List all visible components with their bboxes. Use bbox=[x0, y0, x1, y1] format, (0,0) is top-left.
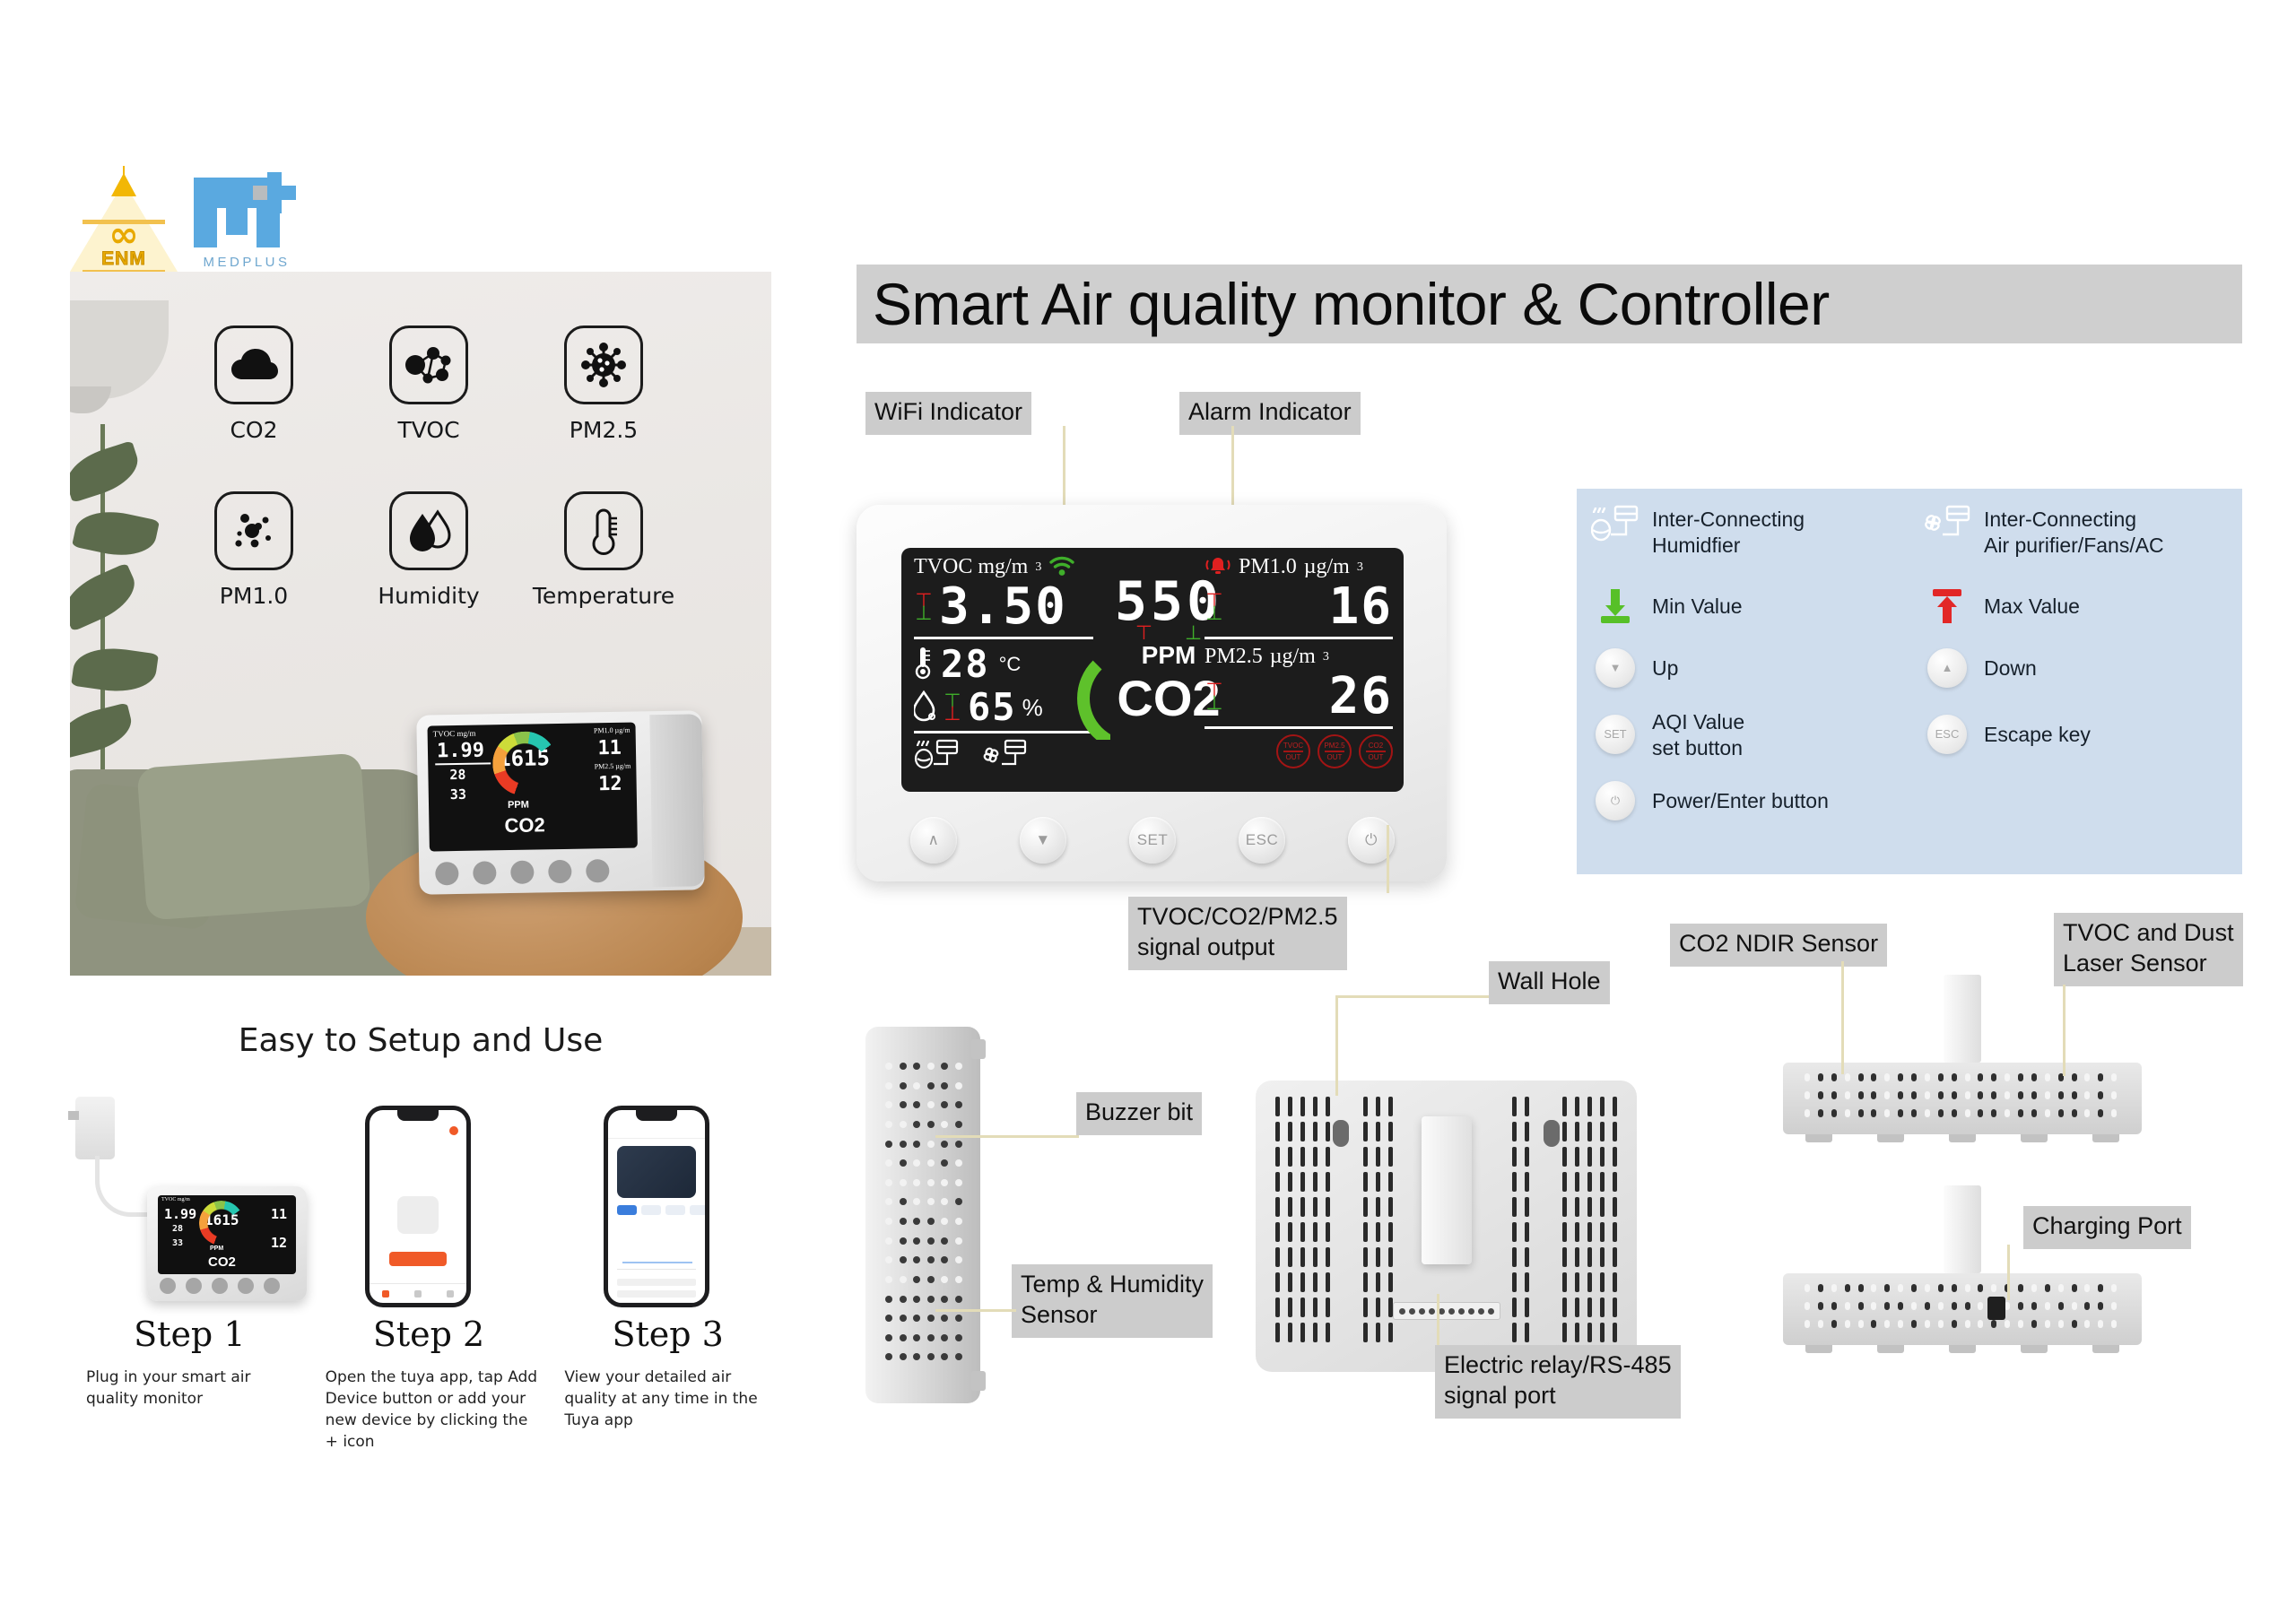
humidifier-link-icon bbox=[1589, 505, 1641, 546]
feature-icon-grid: CO2 bbox=[178, 325, 680, 657]
legend-label: Inter-Connecting Humidfier bbox=[1652, 505, 1805, 559]
lcd-tvoc-sup: 3 bbox=[1035, 560, 1041, 575]
cloud-icon bbox=[214, 325, 293, 404]
lifestyle-photo: CO2 bbox=[70, 272, 771, 976]
co2-out-indicator: CO2 OUT bbox=[1359, 734, 1393, 768]
device-back-view bbox=[1256, 1081, 1637, 1372]
lcd-divider bbox=[1205, 726, 1393, 729]
tab-home-icon[interactable] bbox=[382, 1290, 389, 1298]
feature-label: PM2.5 bbox=[527, 417, 680, 443]
legend-min-value: Min Value bbox=[1589, 586, 1921, 627]
monitor-lcd-screen: TVOC mg/m3 ⊤ ⊥ 3.50 bbox=[901, 548, 1404, 792]
enm-logo: ∞ ENM bbox=[70, 166, 178, 278]
lcd-pm25-unit: µg/m bbox=[1270, 645, 1316, 669]
lcd-pm25-sup: 3 bbox=[1323, 650, 1329, 664]
medplus-plus-horizontal bbox=[278, 186, 296, 200]
legend-set-button: SET AQI Value set button bbox=[1589, 707, 1921, 761]
photo-device: TVOC mg/m 1.99 28 33 1615 PPM CO2 PM1.0 … bbox=[416, 710, 704, 895]
legend-humidifier: Inter-Connecting Humidfier bbox=[1589, 505, 1921, 559]
down-button-icon: ▲ bbox=[1927, 648, 1967, 688]
step1-lcd-ring bbox=[199, 1201, 244, 1245]
signal-output-indicators: TVOC OUT PM2.5 OUT CO2 OUT bbox=[1205, 734, 1393, 768]
chip-more[interactable] bbox=[690, 1205, 709, 1215]
lcd-tvoc-label: TVOC mg/m bbox=[914, 555, 1028, 579]
tvoc-out-indicator: TVOC OUT bbox=[1276, 734, 1310, 768]
legend-label: Inter-Connecting Air purifier/Fans/AC bbox=[1984, 505, 2164, 559]
readings-card bbox=[617, 1146, 696, 1198]
phone-notch bbox=[636, 1110, 677, 1121]
min-value-icon bbox=[1589, 586, 1641, 627]
callout-tvoc-dust-sensor: TVOC and Dust Laser Sensor bbox=[2054, 913, 2243, 986]
step-label: Step 2 bbox=[309, 1315, 549, 1354]
lcd-temp-value: 28 bbox=[449, 767, 465, 783]
phone-mockup-add-device bbox=[365, 1106, 471, 1307]
phone-mockup-detail bbox=[604, 1106, 709, 1307]
out-bottom-label: OUT bbox=[1369, 753, 1384, 761]
legend-label: Power/Enter button bbox=[1652, 786, 1829, 814]
co2-max-value-icon: ⊤ bbox=[1135, 627, 1152, 639]
esc-button[interactable]: ESC bbox=[1239, 817, 1285, 864]
callout-buzzer-bit: Buzzer bit bbox=[1076, 1092, 1202, 1135]
leader-line-wall-hole-h bbox=[1335, 995, 1497, 998]
chip-tvoc[interactable] bbox=[641, 1205, 661, 1215]
device-button-row bbox=[435, 859, 609, 885]
step1-lcd-tvoc-label: TVOC mg/m bbox=[161, 1197, 190, 1202]
callout-charging-port: Charging Port bbox=[2023, 1206, 2191, 1249]
feature-pm25: PM2.5 bbox=[527, 325, 680, 443]
board-feet bbox=[1783, 1345, 2142, 1353]
feature-temperature: Temperature bbox=[527, 491, 680, 609]
leader-line-alarm bbox=[1231, 426, 1234, 508]
page-title: Smart Air quality monitor & Controller bbox=[857, 270, 1830, 338]
device-vent bbox=[649, 714, 704, 887]
app-badge-icon bbox=[449, 1126, 458, 1135]
device-button bbox=[586, 859, 609, 882]
setup-step-3: Step 3 View your detailed air quality at… bbox=[548, 1089, 787, 1454]
lcd-pm25-label: PM2.5 µg/m bbox=[595, 762, 631, 771]
legend-power-button: ⏻ Power/Enter button bbox=[1589, 781, 1921, 820]
out-bottom-label: OUT bbox=[1286, 753, 1301, 761]
lcd-co2-unit: PPM bbox=[508, 800, 529, 811]
lcd-pm1-header: PM1.0 µg/m3 bbox=[1205, 555, 1393, 579]
app-header bbox=[608, 1123, 705, 1139]
leader-line-tvoc-sensor bbox=[2063, 985, 2066, 1076]
feature-label: TVOC bbox=[352, 417, 505, 443]
pm1-minmax-icons: ⊤ ⊥ bbox=[1205, 595, 1224, 620]
add-device-button[interactable] bbox=[389, 1252, 447, 1266]
stand-clip bbox=[1944, 975, 1981, 1063]
out-top-label: PM2.5 bbox=[1324, 742, 1344, 750]
callout-co2-ndir-sensor: CO2 NDIR Sensor bbox=[1670, 924, 1887, 967]
setup-step-1: TVOC mg/m 1.99 28 33 1615 PPM CO2 11 12 bbox=[70, 1089, 309, 1454]
out-top-label: TVOC bbox=[1283, 742, 1303, 750]
droplet-icon bbox=[914, 690, 937, 726]
lcd-divider bbox=[914, 731, 1093, 733]
step-2-visual bbox=[309, 1089, 549, 1309]
lcd-link-icons bbox=[914, 739, 1093, 769]
step1-lcd-tvoc-value: 1.99 bbox=[164, 1206, 196, 1222]
feature-humidity: Humidity bbox=[352, 491, 505, 609]
up-button[interactable]: ∧ bbox=[910, 817, 957, 864]
feature-co2: CO2 bbox=[178, 325, 330, 443]
callout-temp-humidity-sensor: Temp & Humidity Sensor bbox=[1012, 1264, 1213, 1338]
device-button bbox=[473, 861, 496, 884]
step-1-visual: TVOC mg/m 1.99 28 33 1615 PPM CO2 11 12 bbox=[70, 1089, 309, 1309]
charging-port-opening bbox=[1987, 1297, 2005, 1320]
leader-line-wifi bbox=[1063, 426, 1065, 508]
down-button[interactable]: ▼ bbox=[1020, 817, 1066, 864]
lcd-divider bbox=[914, 637, 1093, 639]
medplus-logo-text: MEDPLUS bbox=[188, 255, 305, 270]
legend-label: Max Value bbox=[1984, 592, 2080, 620]
wall-mount-hole bbox=[1544, 1120, 1560, 1147]
plant-leaf bbox=[71, 643, 159, 697]
wall-mount-hole bbox=[1333, 1120, 1349, 1147]
min-value-icon: ⊥ bbox=[1205, 697, 1222, 709]
step-description: View your detailed air quality at any ti… bbox=[548, 1367, 787, 1431]
leader-line-wall-hole bbox=[1335, 995, 1338, 1096]
lcd-pm25-header: PM2.5 µg/m3 bbox=[1205, 645, 1393, 669]
power-button-icon: ⏻ bbox=[1596, 781, 1635, 820]
pm25-minmax-icons: ⊤ ⊥ bbox=[1205, 684, 1224, 709]
lcd-humidity-unit: % bbox=[1022, 694, 1043, 722]
lcd-humidity-value: 33 bbox=[450, 786, 466, 803]
setup-steps: TVOC mg/m 1.99 28 33 1615 PPM CO2 11 12 bbox=[70, 1089, 787, 1454]
tab-smart-icon[interactable] bbox=[414, 1290, 422, 1298]
medplus-logo: MEDPLUS bbox=[188, 170, 305, 278]
lcd-tvoc-label: TVOC mg/m bbox=[433, 729, 476, 739]
metric-chips[interactable] bbox=[617, 1205, 709, 1215]
legend-label: Down bbox=[1984, 654, 2037, 681]
out-top-label: CO2 bbox=[1369, 742, 1383, 750]
setup-step-2: Step 2 Open the tuya app, tap Add Device… bbox=[309, 1089, 549, 1454]
esc-button-icon: ESC bbox=[1927, 715, 1967, 754]
device-button bbox=[435, 862, 458, 885]
sensor-board-top bbox=[1783, 1063, 2142, 1134]
lcd-aqi-ring bbox=[492, 731, 558, 796]
step1-lcd-temp: 28 bbox=[172, 1224, 183, 1234]
lamp-base-shape bbox=[70, 386, 111, 413]
min-value-icon: ⊥ bbox=[1205, 607, 1222, 620]
empty-state-illustration bbox=[397, 1196, 439, 1234]
legend-grid: Inter-Connecting Humidfier bbox=[1589, 505, 2230, 858]
tvoc-minmax-icons: ⊤ ⊥ bbox=[914, 595, 934, 620]
lcd-pm25-label: PM2.5 bbox=[1205, 645, 1263, 669]
list-item bbox=[617, 1290, 696, 1298]
list-item bbox=[617, 1302, 696, 1307]
step-1-device: TVOC mg/m 1.99 28 33 1615 PPM CO2 11 12 bbox=[147, 1186, 307, 1301]
set-button-icon: SET bbox=[1596, 715, 1635, 754]
monitor-button-row: ∧ ▼ SET ESC ⏻ bbox=[910, 817, 1395, 864]
set-button[interactable]: SET bbox=[1129, 817, 1176, 864]
lcd-tvoc-value: 1.99 bbox=[437, 739, 484, 762]
step1-lcd-pm25: 12 bbox=[271, 1235, 287, 1251]
device-side-view bbox=[865, 1027, 980, 1403]
up-button-icon: ▼ bbox=[1596, 648, 1635, 688]
feature-label: Humidity bbox=[352, 583, 505, 609]
step1-lcd-hum: 33 bbox=[172, 1238, 183, 1248]
legend-esc-button: ESC Escape key bbox=[1921, 715, 2226, 754]
board-vent-holes bbox=[1805, 1284, 2120, 1334]
droplet-icon bbox=[389, 491, 468, 570]
lcd-pm25-value: 26 bbox=[1230, 671, 1393, 723]
dust-icon bbox=[214, 491, 293, 570]
lcd-co2-label: CO2 bbox=[504, 813, 545, 838]
legend-up-button: ▼ Up bbox=[1589, 648, 1921, 688]
feature-label: PM1.0 bbox=[178, 583, 330, 609]
out-bottom-label: OUT bbox=[1327, 753, 1343, 761]
sensor-board-bottom bbox=[1783, 1273, 2142, 1345]
lamp-shape bbox=[70, 300, 169, 399]
particle-icon bbox=[564, 325, 643, 404]
leader-line-co2-sensor bbox=[1841, 961, 1844, 1074]
callout-alarm-indicator: Alarm Indicator bbox=[1179, 392, 1361, 435]
feature-label: CO2 bbox=[178, 417, 330, 443]
lcd-divider bbox=[1205, 637, 1393, 639]
humidifier-link-icon bbox=[914, 739, 961, 769]
leader-line-temp-humidity bbox=[935, 1309, 1016, 1312]
list-item bbox=[617, 1279, 696, 1286]
step1-lcd-pm1: 11 bbox=[271, 1206, 287, 1222]
side-vent-holes bbox=[885, 1063, 962, 1367]
plant-leaf bbox=[70, 562, 143, 631]
legend-down-button: ▲ Down bbox=[1921, 648, 2226, 688]
lcd-pm1-sup: 3 bbox=[1357, 560, 1363, 575]
plant-leaf bbox=[70, 440, 144, 503]
enm-cap-icon bbox=[111, 173, 136, 196]
step-description: Open the tuya app, tap Add Device button… bbox=[309, 1367, 549, 1454]
lcd-right-column: PM1.0 µg/m3 ⊤ ⊥ 16 PM2.5 µg/m3 bbox=[1205, 555, 1393, 768]
device-lcd: TVOC mg/m 1.99 28 33 1615 PPM CO2 PM1.0 … bbox=[427, 723, 637, 852]
humidity-minmax-icons: ⊤ ⊥ bbox=[943, 695, 962, 720]
device-button bbox=[510, 861, 534, 884]
leader-line-signal-output bbox=[1387, 825, 1389, 893]
lcd-pm25-value: 12 bbox=[598, 773, 622, 795]
enm-logo-text: ENM bbox=[84, 248, 163, 270]
lcd-pm1-value: 11 bbox=[597, 737, 622, 759]
legend-label: Min Value bbox=[1652, 592, 1743, 620]
molecule-icon bbox=[389, 325, 468, 404]
legend-label: Up bbox=[1652, 654, 1678, 681]
leader-line-buzzer bbox=[935, 1135, 1079, 1138]
leader-line-charging-port bbox=[2007, 1245, 2010, 1300]
plant-leaf bbox=[72, 504, 160, 563]
air-purifier-link-icon bbox=[1921, 505, 1973, 546]
feature-pm10: PM1.0 bbox=[178, 491, 330, 609]
cushion-shape bbox=[136, 752, 370, 920]
electric-relay-port bbox=[1393, 1302, 1500, 1320]
setup-section-title: Easy to Setup and Use bbox=[70, 1022, 771, 1059]
lcd-left-column: TVOC mg/m3 ⊤ ⊥ 3.50 bbox=[914, 555, 1093, 769]
air-purifier-link-icon bbox=[980, 739, 1027, 769]
callout-signal-output: TVOC/CO2/PM2.5 signal output bbox=[1128, 897, 1347, 970]
legend-panel: Inter-Connecting Humidfier bbox=[1577, 489, 2242, 874]
legend-max-value: Max Value bbox=[1921, 586, 2226, 627]
lcd-temp-value: 28 bbox=[941, 645, 990, 684]
alarm-bell-icon bbox=[1205, 555, 1231, 579]
chip-pm25[interactable] bbox=[665, 1205, 685, 1215]
step-label: Step 3 bbox=[548, 1315, 787, 1354]
tab-me-icon[interactable] bbox=[447, 1290, 454, 1298]
callout-wall-hole: Wall Hole bbox=[1489, 961, 1610, 1004]
lcd-pm1-label: PM1.0 bbox=[1239, 555, 1297, 579]
min-value-icon: ⊥ bbox=[915, 607, 932, 620]
lcd-tvoc-header: TVOC mg/m3 bbox=[914, 555, 1093, 579]
max-value-icon bbox=[1921, 586, 1973, 627]
main-monitor-device: TVOC mg/m3 ⊤ ⊥ 3.50 bbox=[857, 505, 1447, 881]
board-feet bbox=[1783, 1134, 2142, 1142]
lcd-pm1-value: 16 bbox=[1230, 581, 1393, 633]
thermometer-icon bbox=[914, 646, 932, 684]
lcd-humidity-value: 65 bbox=[968, 688, 1017, 727]
stand-clip bbox=[1944, 1185, 1981, 1273]
callout-electric-relay: Electric relay/RS-485 signal port bbox=[1435, 1345, 1681, 1419]
app-tab-bar[interactable] bbox=[370, 1283, 466, 1303]
page-title-banner: Smart Air quality monitor & Controller bbox=[857, 265, 2242, 343]
feature-label: Temperature bbox=[527, 583, 680, 609]
chip-co2[interactable] bbox=[617, 1205, 637, 1215]
stand-bracket bbox=[1422, 1116, 1472, 1264]
co2-min-value-icon: ⊥ bbox=[1185, 627, 1202, 639]
max-value-icon: ⊥ bbox=[944, 707, 961, 720]
step-3-visual bbox=[548, 1089, 787, 1309]
board-vent-holes bbox=[1805, 1073, 2120, 1124]
pm25-out-indicator: PM2.5 OUT bbox=[1318, 734, 1352, 768]
wifi-icon bbox=[1048, 555, 1075, 579]
callout-wifi-indicator: WiFi Indicator bbox=[865, 392, 1031, 435]
power-plug-icon bbox=[75, 1097, 115, 1159]
legend-label: Escape key bbox=[1984, 720, 2091, 748]
infographic-page: ∞ ENM MEDPLUS bbox=[0, 0, 2296, 1623]
step1-lcd-ppm: PPM bbox=[210, 1245, 223, 1252]
feature-tvoc: TVOC bbox=[352, 325, 505, 443]
step1-lcd-co2-label: CO2 bbox=[208, 1254, 236, 1270]
lcd-tvoc-value: 3.50 bbox=[939, 581, 1067, 633]
lcd-pm1-unit: µg/m bbox=[1304, 555, 1350, 579]
lcd-pm1-label: PM1.0 µg/m bbox=[594, 726, 631, 735]
record-list bbox=[617, 1279, 696, 1307]
thermometer-icon bbox=[564, 491, 643, 570]
step-description: Plug in your smart air quality monitor bbox=[70, 1367, 309, 1410]
phone-notch bbox=[397, 1110, 439, 1121]
device-button bbox=[548, 860, 571, 883]
history-graph bbox=[617, 1223, 696, 1270]
step-label: Step 1 bbox=[70, 1315, 309, 1354]
legend-label: AQI Value set button bbox=[1652, 707, 1744, 761]
lcd-temp-unit: °C bbox=[999, 653, 1022, 676]
legend-air-purifier: Inter-Connecting Air purifier/Fans/AC bbox=[1921, 505, 2226, 559]
